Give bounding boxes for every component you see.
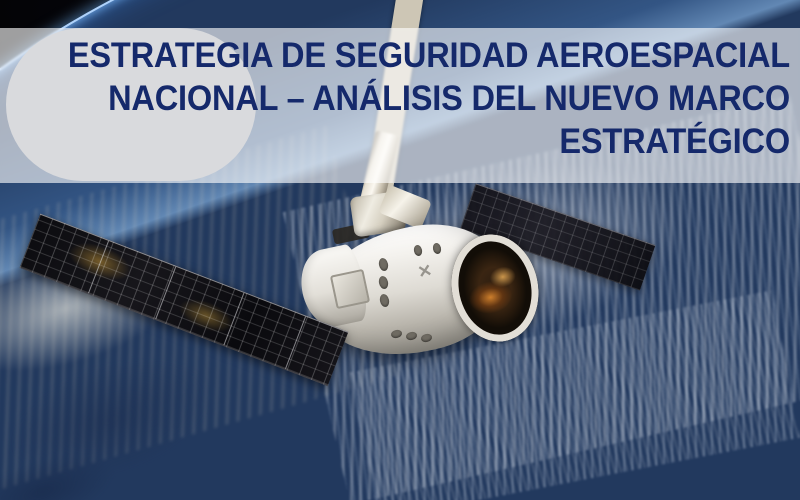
page-title-line-3: ESTRATÉGICO bbox=[55, 120, 790, 163]
page-title: ESTRATEGIA DE SEGURIDAD AEROESPACIAL NAC… bbox=[55, 34, 790, 163]
page-title-line-2: NACIONAL – ANÁLISIS DEL NUEVO MARCO bbox=[55, 77, 790, 120]
page-title-line-1: ESTRATEGIA DE SEGURIDAD AEROESPACIAL bbox=[55, 34, 790, 77]
title-card: ✕ ESTRATEGIA DE SEGURIDAD AEROESPACIAL bbox=[0, 0, 800, 500]
